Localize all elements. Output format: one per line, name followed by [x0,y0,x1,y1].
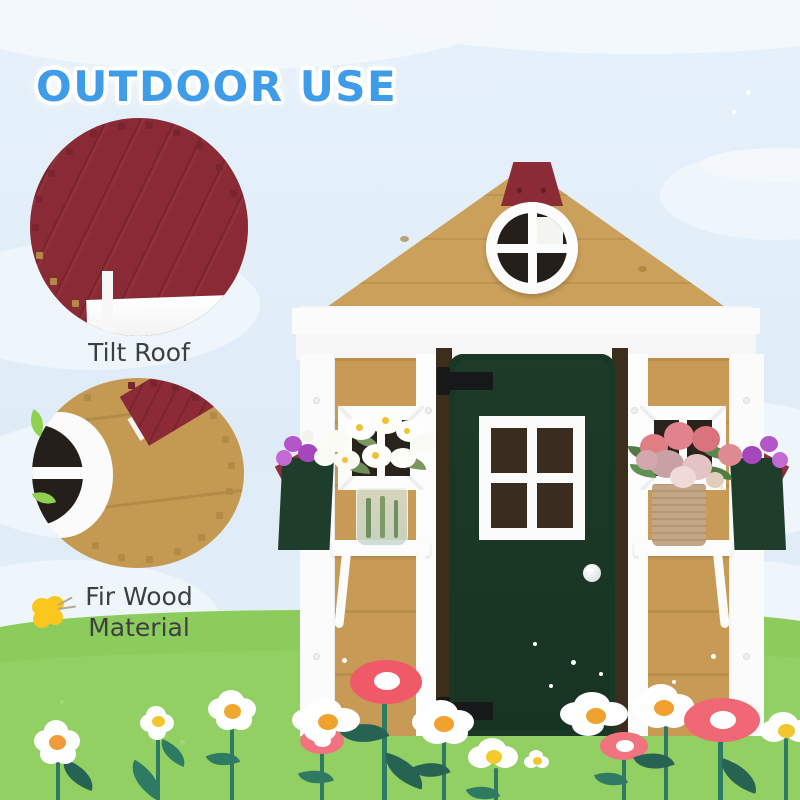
rose-bloom [664,422,694,450]
door-hinge-top [437,372,493,390]
callout-nail-row [30,118,248,336]
daisy-center [382,417,389,424]
playhouse-door[interactable] [449,354,615,736]
door-window [479,416,585,540]
daisy-center [372,452,379,459]
callout-tilt-roof-image [30,118,248,336]
planter-flower-purple [760,436,778,452]
planter-flower-white [302,430,314,442]
butterfly-wing [47,609,63,625]
window-mullion-horizontal [486,244,578,253]
rose-bloom [636,450,658,470]
planter-flower-purple [742,446,762,464]
grass-texture-dot [60,700,64,704]
rose-bloom [670,466,696,488]
daisy-center [356,424,363,431]
callout-label-tilt-roof: Tilt Roof [30,338,248,369]
callout-nail-row [32,378,244,568]
window-pane-highlight [533,217,563,247]
round-gable-window [486,202,578,294]
daisy-bloom [314,448,336,466]
butterfly-icon [30,596,70,634]
wood-knot [638,266,647,272]
page-title: OUTDOOR USE [36,62,397,111]
planter-box-right [730,458,786,550]
woven-basket-pot [652,484,706,546]
door-knob[interactable] [583,564,601,582]
callout-tilt-roof [30,118,248,336]
wood-knot [400,236,409,242]
product-feature-image: Tilt Roof [0,0,800,800]
rose-bloom [706,472,724,488]
daisy-center [342,457,348,463]
header-trim-board [292,308,760,336]
planter-flower-purple [276,450,292,466]
daisy-bloom [412,434,436,452]
callout-fir-wood-image [32,378,244,568]
daisy-bloom [390,448,416,468]
sparkle-dot [746,90,751,95]
door-mullion-horizontal [479,473,585,483]
rose-bloom [718,444,742,466]
daisy-center [404,428,410,434]
callout-fir-wood [32,378,244,568]
rose-bloom [692,426,720,452]
sparkle-dot [732,110,736,114]
grass-texture-dot [180,740,185,745]
playhouse-product-photo [258,158,800,736]
planter-flower-purple [772,452,788,468]
planter-box-left [278,458,334,550]
